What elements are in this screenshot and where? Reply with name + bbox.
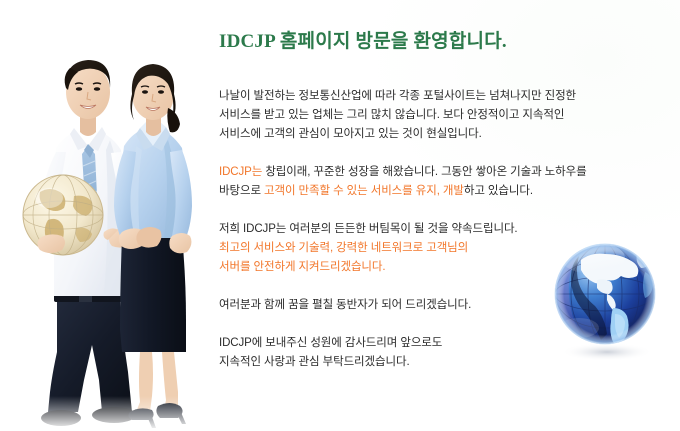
blue-globe-graphic (545, 236, 669, 364)
business-couple-photo (0, 0, 212, 431)
text-plain: 창립이래, 꾸준한 성장을 해왔습니다. 그동안 쌓아온 기술과 노하우를 (265, 166, 586, 178)
text-accent: 고객이 만족할 수 있는 서비스를 유지, 개발 (264, 185, 464, 197)
text-accent: IDCJP는 (219, 166, 265, 178)
page-title: IDCJP 홈페이지 방문을 환영합니다. (219, 26, 667, 53)
text-line: 서비스를 받고 있는 업체는 그리 많치 않습니다. 보다 안정적이고 지속적인 (219, 106, 667, 125)
text-line: 바탕으로 고객이 만족할 수 있는 서비스를 유지, 개발하고 있습니다. (219, 182, 667, 201)
paragraph-intro: 나날이 발전하는 정보통신산업에 따라 각종 포털사이트는 넘쳐나지만 진정한 … (219, 87, 667, 144)
text-line: 서비스에 고객의 관심이 모아지고 있는 것이 현실입니다. (219, 125, 667, 144)
paragraph-growth: IDCJP는 창립이래, 꾸준한 성장을 해왔습니다. 그동안 쌓아온 기술과 … (219, 163, 667, 201)
text-plain: 하고 있습니다. (464, 185, 533, 197)
text-plain: 바탕으로 (219, 185, 264, 197)
text-line: IDCJP는 창립이래, 꾸준한 성장을 해왔습니다. 그동안 쌓아온 기술과 … (219, 163, 667, 182)
page-root: IDCJP 홈페이지 방문을 환영합니다. 나날이 발전하는 정보통신산업에 따… (0, 0, 680, 431)
text-line: 나날이 발전하는 정보통신산업에 따라 각종 포털사이트는 넘쳐나지만 진정한 (219, 87, 667, 106)
